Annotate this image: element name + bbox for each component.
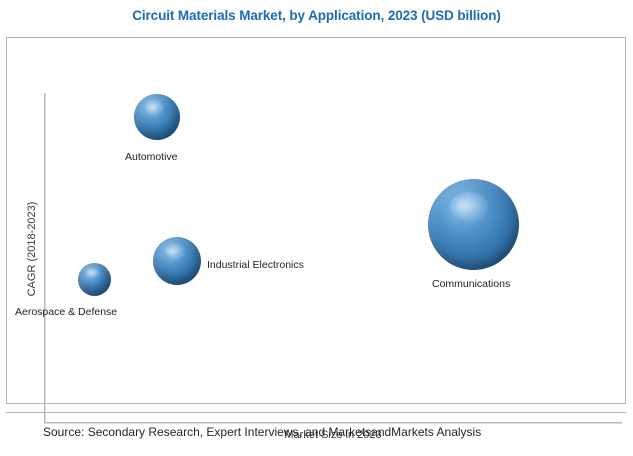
bubble-label-aerospace-and-defense: Aerospace & Defense — [15, 306, 117, 318]
bubble-highlight-icon — [450, 192, 488, 221]
bubble-chart-figure: Circuit Materials Market, by Application… — [0, 0, 633, 456]
y-axis-line — [44, 93, 46, 424]
bubble-industrial-electronics[interactable] — [153, 237, 201, 285]
bubble-highlight-icon — [86, 268, 100, 279]
x-axis-line — [44, 422, 622, 424]
y-axis-title: CAGR (2018-2023) — [26, 179, 38, 319]
bubble-highlight-icon — [145, 100, 164, 115]
bubble-highlight-icon — [165, 244, 185, 259]
source-note: Source: Secondary Research, Expert Inter… — [43, 425, 481, 439]
bubble-label-communications: Communications — [432, 278, 510, 290]
footer-divider — [6, 412, 626, 413]
bubble-automotive[interactable] — [134, 94, 180, 140]
bubble-aerospace-and-defense[interactable] — [78, 263, 111, 296]
chart-title: Circuit Materials Market, by Application… — [0, 8, 633, 23]
bubble-label-automotive: Automotive — [125, 151, 178, 163]
bubble-communications[interactable] — [428, 179, 519, 270]
bubble-label-industrial-electronics: Industrial Electronics — [207, 259, 304, 271]
plot-area-frame: CAGR (2018-2023) Market Size in 2023 Aut… — [6, 37, 626, 404]
